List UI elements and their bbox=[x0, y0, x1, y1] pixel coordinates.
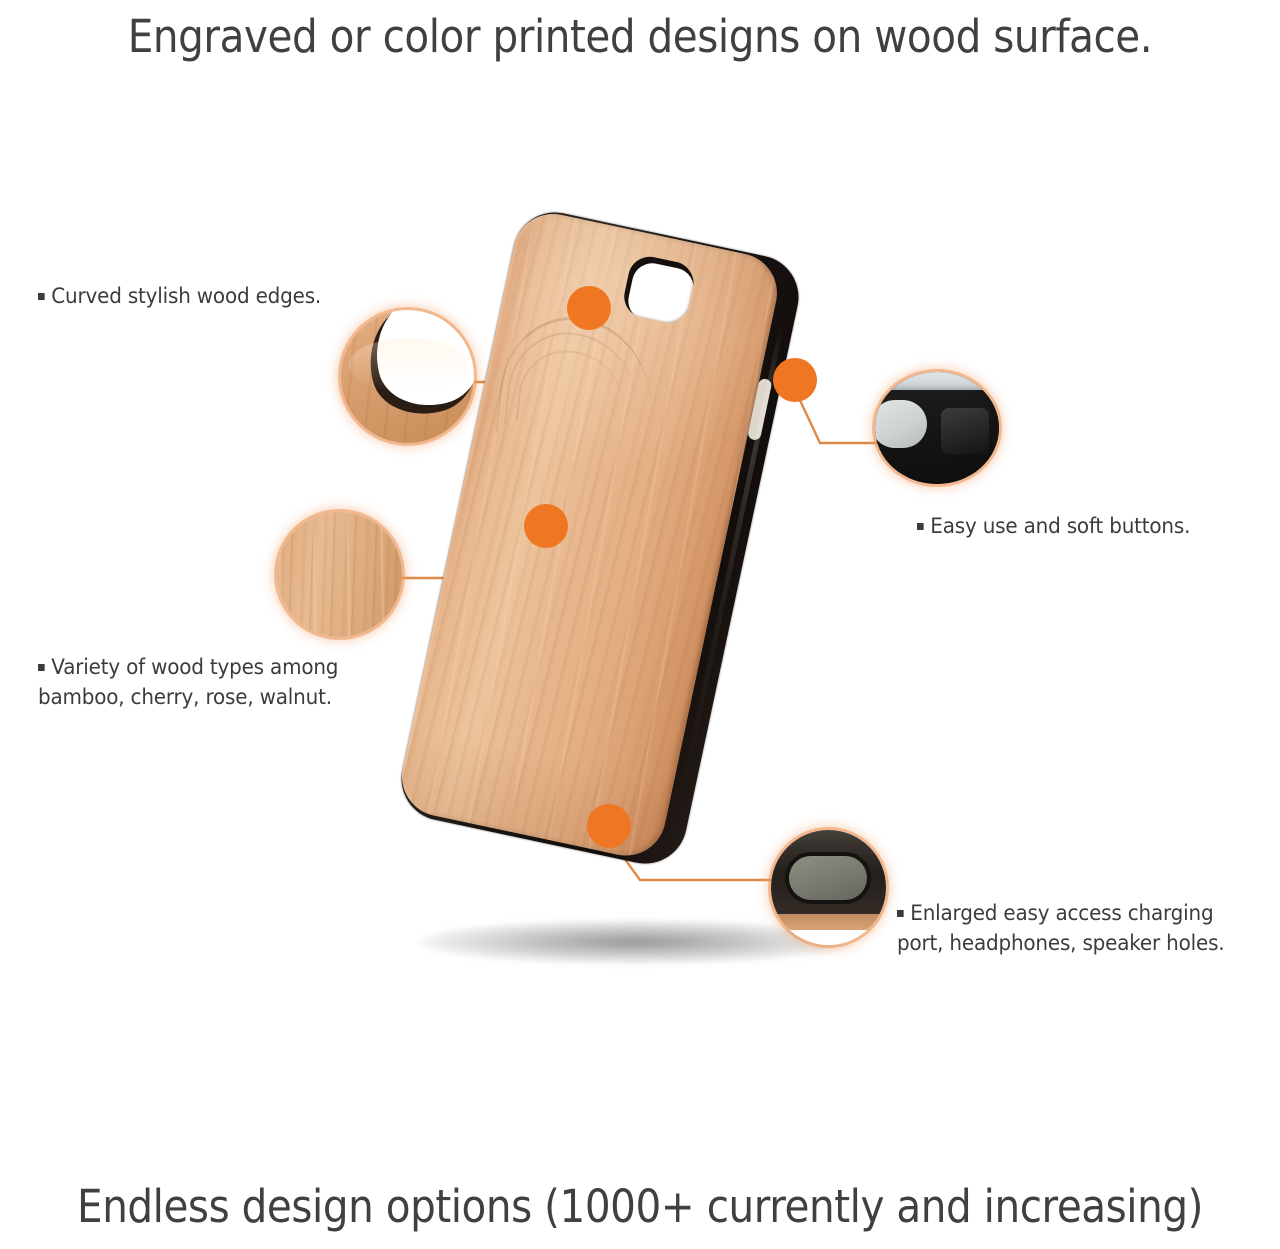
callout-label-curved-edges: Curved stylish wood edges. bbox=[38, 281, 321, 311]
detail-button-ridge bbox=[941, 408, 989, 454]
detail-circle-soft-buttons bbox=[875, 372, 999, 484]
callout-text-charging-port-line1: Enlarged easy access charging bbox=[910, 901, 1213, 925]
detail-charging-port-hole bbox=[789, 856, 867, 900]
callout-label-wood-variety: Variety of wood types among bamboo, cher… bbox=[38, 652, 338, 712]
marker-dot-soft-buttons[interactable] bbox=[773, 358, 817, 402]
detail-port-wood-edge bbox=[771, 914, 886, 930]
detail-wood-swatch-grain bbox=[277, 512, 402, 637]
detail-circle-charging-port bbox=[771, 830, 886, 945]
detail-button-top-edge bbox=[875, 372, 999, 392]
detail-port-background bbox=[771, 930, 886, 945]
detail-edge-shine bbox=[349, 338, 469, 392]
detail-circle-curved-edges bbox=[341, 310, 474, 443]
callout-text-wood-variety-line1: Variety of wood types among bbox=[51, 655, 338, 679]
footer-title: Endless design options (1000+ currently … bbox=[64, 1180, 1216, 1233]
detail-side-button bbox=[875, 400, 927, 448]
bullet-icon bbox=[38, 664, 45, 671]
detail-circle-wood-variety bbox=[277, 512, 402, 637]
callout-label-charging-port: Enlarged easy access charging port, head… bbox=[897, 898, 1224, 958]
page-title: Engraved or color printed designs on woo… bbox=[64, 10, 1216, 63]
callout-label-soft-buttons: Easy use and soft buttons. bbox=[917, 511, 1190, 541]
bullet-icon bbox=[38, 293, 45, 300]
bullet-icon bbox=[917, 523, 924, 530]
callout-text-wood-variety-line2: bamboo, cherry, rose, walnut. bbox=[38, 682, 338, 712]
connector-soft-buttons bbox=[798, 396, 880, 443]
marker-dot-curved-edges[interactable] bbox=[567, 286, 611, 330]
callout-text-curved-edges-line1: Curved stylish wood edges. bbox=[51, 284, 321, 308]
marker-dot-wood-variety[interactable] bbox=[524, 504, 568, 548]
callout-text-soft-buttons-line1: Easy use and soft buttons. bbox=[930, 514, 1190, 538]
callout-text-charging-port-line2: port, headphones, speaker holes. bbox=[897, 928, 1224, 958]
bullet-icon bbox=[897, 910, 904, 917]
marker-dot-charging-port[interactable] bbox=[587, 804, 631, 848]
